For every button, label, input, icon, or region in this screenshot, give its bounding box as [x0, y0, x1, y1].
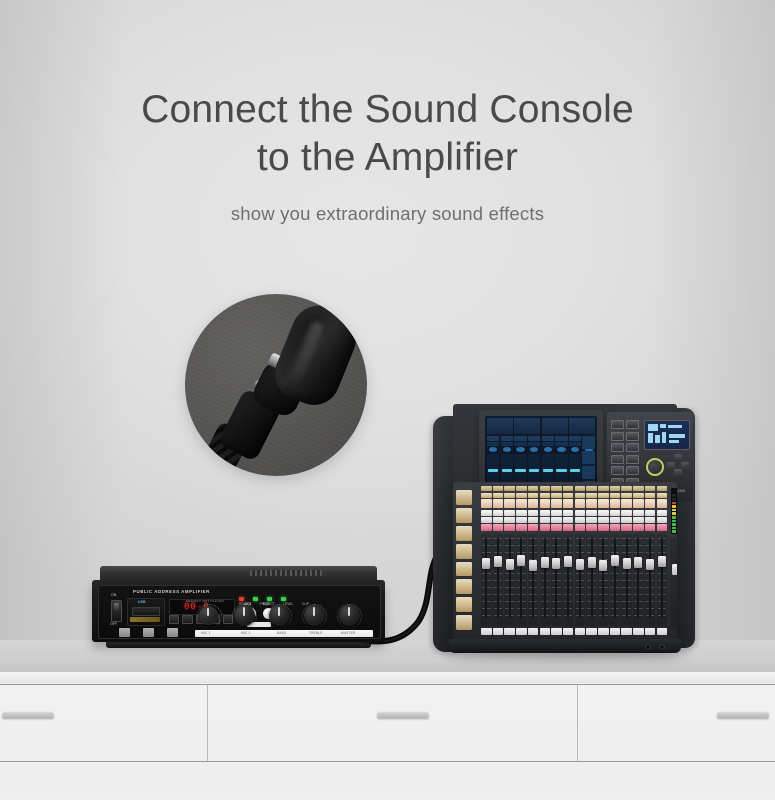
vu-meter-right: [677, 489, 678, 533]
scribble-cell[interactable]: [598, 628, 609, 635]
gain-knob[interactable]: [657, 499, 668, 508]
function-button[interactable]: [626, 432, 639, 441]
channel-number-button[interactable]: [586, 493, 597, 498]
channel-fader[interactable]: [645, 534, 656, 626]
usb-port-icon[interactable]: [132, 607, 160, 616]
function-button[interactable]: [626, 466, 639, 475]
value-encoder-knob[interactable]: [646, 458, 664, 476]
gain-knob[interactable]: [633, 499, 644, 508]
select-button[interactable]: [481, 486, 492, 491]
channel-number-button[interactable]: [493, 493, 504, 498]
utility-button[interactable]: [456, 579, 472, 594]
dpad-up-icon[interactable]: [674, 454, 682, 461]
channel-number-button[interactable]: [540, 493, 551, 498]
scribble-cell[interactable]: [563, 628, 574, 635]
select-button[interactable]: [598, 486, 609, 491]
select-button[interactable]: [540, 486, 551, 491]
channel-fader[interactable]: [551, 534, 562, 626]
bass-knob[interactable]: [269, 605, 290, 626]
mute-button[interactable]: [575, 524, 586, 531]
mute-button[interactable]: [598, 524, 609, 531]
function-button[interactable]: [626, 455, 639, 464]
aux-button[interactable]: [481, 510, 492, 516]
select-button[interactable]: [586, 486, 597, 491]
channel-number-button[interactable]: [621, 493, 632, 498]
scribble-cell[interactable]: [504, 628, 515, 635]
aux-button[interactable]: [586, 510, 597, 516]
gain-knob[interactable]: [516, 499, 527, 508]
channel-fader[interactable]: [563, 534, 574, 626]
app-meter-block: [487, 418, 513, 434]
aux-button[interactable]: [645, 517, 656, 523]
app-side-button[interactable]: [582, 466, 595, 479]
channel-number-button[interactable]: [481, 493, 492, 498]
scribble-cell[interactable]: [540, 628, 551, 635]
treble-knob[interactable]: [304, 605, 325, 626]
select-button[interactable]: [504, 486, 515, 491]
scribble-cell[interactable]: [657, 628, 668, 635]
utility-button[interactable]: [456, 526, 472, 541]
utility-button[interactable]: [456, 544, 472, 559]
channel-fader[interactable]: [586, 534, 597, 626]
master-section: [669, 486, 677, 644]
amplifier-panel-inset: PUBLIC ADDRESS AMPLIFIER ON OFF USB MEMO…: [98, 585, 381, 639]
drawer-handle-icon[interactable]: [2, 712, 54, 719]
console-lcd-screen: [644, 420, 690, 450]
connectivity-icon-row: [113, 628, 187, 638]
gain-knob[interactable]: [493, 499, 504, 508]
drawer-handle-icon[interactable]: [377, 712, 429, 719]
clip-led-icon: [281, 597, 286, 601]
drawer-right[interactable]: [577, 685, 775, 761]
channel-select-row[interactable]: [481, 486, 667, 491]
console-upper-deck: Roland M-200i: [453, 404, 677, 488]
aux-button[interactable]: [598, 517, 609, 523]
select-button[interactable]: [657, 486, 668, 491]
app-side-button[interactable]: [582, 451, 595, 464]
vu-meter: [671, 488, 677, 534]
aux-button[interactable]: [586, 517, 597, 523]
select-button[interactable]: [633, 486, 644, 491]
control-label-strip: MIC 1 MIC 2 BASS TREBLE MASTER: [195, 630, 373, 637]
ventilation-grille-icon: [250, 570, 322, 576]
usb-icon: [143, 628, 154, 637]
function-button[interactable]: [611, 420, 624, 429]
gain-knob[interactable]: [621, 499, 632, 508]
level-led-icon: [267, 597, 272, 601]
gain-knob[interactable]: [481, 499, 492, 508]
mute-button[interactable]: [645, 524, 656, 531]
mute-button[interactable]: [528, 524, 539, 531]
mic1-volume-knob[interactable]: [199, 606, 218, 625]
channel-number-button[interactable]: [551, 493, 562, 498]
channel-number-button[interactable]: [633, 493, 644, 498]
gain-knob[interactable]: [563, 499, 574, 508]
public-address-amplifier: PUBLIC ADDRESS AMPLIFIER ON OFF USB MEMO…: [92, 566, 385, 650]
mic2-volume-knob[interactable]: [234, 605, 255, 626]
gain-knob[interactable]: [645, 499, 656, 508]
gain-knob[interactable]: [586, 499, 597, 508]
aux-button[interactable]: [504, 510, 515, 516]
gain-knob[interactable]: [551, 499, 562, 508]
strip-label-0: MIC 1: [201, 631, 211, 635]
mute-button[interactable]: [516, 524, 527, 531]
power-led-icon: [239, 597, 244, 601]
select-button[interactable]: [575, 486, 586, 491]
select-button[interactable]: [563, 486, 574, 491]
page-subtitle: show you extraordinary sound effects: [0, 203, 775, 225]
aux-button[interactable]: [598, 510, 609, 516]
function-button[interactable]: [626, 443, 639, 452]
drawer-center[interactable]: [207, 685, 578, 761]
mute-button[interactable]: [551, 524, 562, 531]
drawer-row: [0, 684, 775, 762]
utility-button[interactable]: [456, 562, 472, 577]
gain-knob[interactable]: [540, 499, 551, 508]
aux-button[interactable]: [657, 510, 668, 516]
scribble-cell[interactable]: [586, 628, 597, 635]
app-meter-block: [514, 418, 540, 434]
channel-fader[interactable]: [575, 534, 586, 626]
select-button[interactable]: [610, 486, 621, 491]
master-fader[interactable]: [670, 538, 677, 628]
scribble-cell[interactable]: [575, 628, 586, 635]
app-side-button[interactable]: [582, 436, 595, 449]
gain-knob[interactable]: [610, 499, 621, 508]
aux-button[interactable]: [563, 510, 574, 516]
function-button-grid[interactable]: [611, 420, 639, 486]
scribble-cell[interactable]: [633, 628, 644, 635]
page-title-line-1: Connect the Sound Console: [0, 86, 775, 134]
app-meter-block: [542, 418, 568, 434]
power-on-label: ON: [111, 593, 116, 597]
aux-button[interactable]: [633, 517, 644, 523]
channel-number-button[interactable]: [516, 493, 527, 498]
select-button[interactable]: [551, 486, 562, 491]
strip-label-3: TREBLE: [309, 631, 323, 635]
channel-fader[interactable]: [493, 534, 504, 626]
usb-label: USB: [138, 600, 146, 604]
aux-button[interactable]: [633, 510, 644, 516]
master-volume-knob[interactable]: [339, 605, 360, 626]
channel-number-button[interactable]: [657, 493, 668, 498]
utility-button[interactable]: [456, 597, 472, 612]
navigation-dpad[interactable]: [667, 454, 689, 476]
strip-label-4: MASTER: [341, 631, 355, 635]
function-button[interactable]: [611, 432, 624, 441]
channel-fader[interactable]: [516, 534, 527, 626]
channel-number-button[interactable]: [645, 493, 656, 498]
mute-button[interactable]: [610, 524, 621, 531]
amplifier-base: [106, 642, 371, 648]
mute-button[interactable]: [633, 524, 644, 531]
aux-button[interactable]: [575, 510, 586, 516]
gain-knob-row[interactable]: [481, 499, 667, 508]
amplifier-brand-label: PUBLIC ADDRESS AMPLIFIER: [133, 589, 210, 594]
gain-knob[interactable]: [504, 499, 515, 508]
app-meter-block: [569, 418, 595, 434]
channel-fader[interactable]: [504, 534, 515, 626]
scribble-cell[interactable]: [493, 628, 504, 635]
sd-card-icon: [167, 628, 178, 637]
mute-button[interactable]: [563, 524, 574, 531]
vu-meter-left: [672, 489, 676, 533]
channel-fader[interactable]: [610, 534, 621, 626]
page-title-line-2: to the Amplifier: [0, 134, 775, 182]
mute-button[interactable]: [540, 524, 551, 531]
product-banner: Connect the Sound Console to the Amplifi…: [0, 0, 775, 800]
strip-label-1: MIC 2: [241, 631, 251, 635]
media-accent-bar: [130, 617, 160, 622]
channel-number-button[interactable]: [575, 493, 586, 498]
scribble-cell[interactable]: [621, 628, 632, 635]
aux-button[interactable]: [610, 517, 621, 523]
aux-button[interactable]: [516, 517, 527, 523]
dpad-left-icon[interactable]: [667, 462, 675, 469]
aux-button[interactable]: [657, 517, 668, 523]
select-button[interactable]: [516, 486, 527, 491]
gain-knob[interactable]: [598, 499, 609, 508]
xlr-connector-closeup: [185, 294, 367, 476]
channel-number-button[interactable]: [563, 493, 574, 498]
aux-button[interactable]: [481, 517, 492, 523]
mute-button[interactable]: [586, 524, 597, 531]
channel-fader[interactable]: [528, 534, 539, 626]
eq2-label: EQ2: [263, 602, 269, 606]
dpad-down-icon[interactable]: [674, 469, 682, 476]
channel-fader[interactable]: [481, 534, 492, 626]
channel-number-button[interactable]: [528, 493, 539, 498]
aux-button[interactable]: [621, 517, 632, 523]
function-button[interactable]: [611, 443, 624, 452]
aux-button[interactable]: [516, 510, 527, 516]
scribble-cell[interactable]: [516, 628, 527, 635]
status-led-strip: [239, 595, 309, 602]
strip-label-2: BASS: [277, 631, 286, 635]
channel-number-button[interactable]: [504, 493, 515, 498]
mute-button[interactable]: [621, 524, 632, 531]
media-button[interactable]: [182, 615, 192, 624]
headline-block: Connect the Sound Console to the Amplifi…: [0, 86, 775, 225]
scribble-cell[interactable]: [610, 628, 621, 635]
aux-button[interactable]: [504, 517, 515, 523]
select-button[interactable]: [493, 486, 504, 491]
dpad-right-icon[interactable]: [681, 462, 689, 469]
mute-button[interactable]: [657, 524, 668, 531]
amplifier-front-panel: PUBLIC ADDRESS AMPLIFIER ON OFF USB MEMO…: [92, 580, 385, 642]
channel-faders[interactable]: [481, 534, 667, 626]
select-button[interactable]: [528, 486, 539, 491]
channel-strip-area: [481, 486, 667, 644]
aux-button[interactable]: [645, 510, 656, 516]
channel-scribble-strip[interactable]: [481, 628, 667, 635]
channel-fader[interactable]: [540, 534, 551, 626]
drawer-left[interactable]: [0, 685, 207, 761]
console-shadow: [445, 648, 689, 658]
utility-button[interactable]: [456, 615, 472, 630]
channel-fader[interactable]: [621, 534, 632, 626]
channel-number-button[interactable]: [598, 493, 609, 498]
channel-number-row[interactable]: [481, 493, 667, 498]
mute-button-row[interactable]: [481, 524, 667, 531]
aux-button[interactable]: [551, 510, 562, 516]
aux-button[interactable]: [610, 510, 621, 516]
aux-button[interactable]: [551, 517, 562, 523]
aux-button[interactable]: [575, 517, 586, 523]
digital-mixing-console: Roland M-200i: [433, 386, 695, 658]
aux-button[interactable]: [540, 517, 551, 523]
mute-button[interactable]: [493, 524, 504, 531]
left-utility-buttons[interactable]: [456, 490, 472, 630]
select-button[interactable]: [645, 486, 656, 491]
channel-fader[interactable]: [633, 534, 644, 626]
scribble-cell[interactable]: [645, 628, 656, 635]
function-button[interactable]: [611, 466, 624, 475]
function-button[interactable]: [626, 420, 639, 429]
aux-button[interactable]: [493, 510, 504, 516]
scribble-cell[interactable]: [481, 628, 492, 635]
aux-button[interactable]: [563, 517, 574, 523]
select-button[interactable]: [621, 486, 632, 491]
app-top-bar: [487, 418, 595, 434]
drawer-handle-icon[interactable]: [717, 712, 769, 719]
channel-fader[interactable]: [598, 534, 609, 626]
aux-button-row-1[interactable]: [481, 510, 667, 516]
aux-button[interactable]: [493, 517, 504, 523]
gain-knob[interactable]: [575, 499, 586, 508]
function-button[interactable]: [611, 455, 624, 464]
master-fader-cap[interactable]: [672, 564, 677, 575]
utility-button[interactable]: [456, 490, 472, 505]
power-switch[interactable]: [111, 600, 122, 622]
aux-button[interactable]: [540, 510, 551, 516]
aux-button[interactable]: [621, 510, 632, 516]
console-fader-deck: [453, 482, 677, 647]
protect-led-icon: [253, 597, 258, 601]
media-button[interactable]: [169, 615, 179, 624]
channel-number-button[interactable]: [610, 493, 621, 498]
scribble-cell[interactable]: [528, 628, 539, 635]
power-off-label: OFF: [110, 622, 117, 626]
bluetooth-icon: [119, 628, 130, 637]
scribble-cell[interactable]: [551, 628, 562, 635]
aux-button-row-2[interactable]: [481, 517, 667, 523]
aux-button[interactable]: [528, 517, 539, 523]
channel-fader[interactable]: [657, 534, 668, 626]
utility-button[interactable]: [456, 508, 472, 523]
usb-media-module[interactable]: USB: [127, 598, 165, 626]
cabinet-base: [0, 760, 775, 800]
aux-button[interactable]: [528, 510, 539, 516]
mute-button[interactable]: [504, 524, 515, 531]
mute-button[interactable]: [481, 524, 492, 531]
gain-knob[interactable]: [528, 499, 539, 508]
